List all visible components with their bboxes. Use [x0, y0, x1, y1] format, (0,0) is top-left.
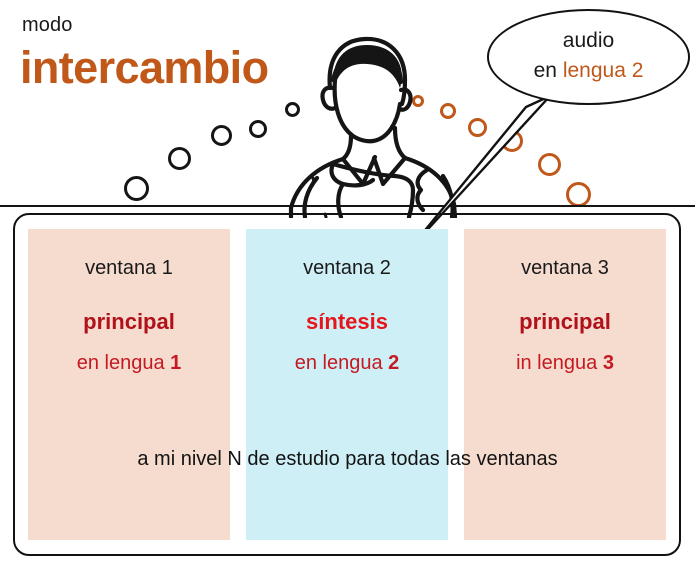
balloon-line-2-prefix: en	[534, 59, 563, 82]
window-1-title: ventana 1	[28, 257, 230, 280]
window-1-language: en lengua 1	[28, 352, 230, 375]
decor-bubble-dark	[211, 125, 232, 146]
window-column-2[interactable]: ventana 2 síntesis en lengua 2	[246, 229, 448, 540]
mode-eyebrow-label: modo	[22, 14, 72, 37]
decor-bubble-dark	[124, 176, 149, 201]
horizon-line	[0, 205, 695, 207]
balloon-line-1: audio	[487, 26, 690, 56]
speech-balloon-text: audio en lengua 2	[487, 26, 690, 86]
window-3-role: principal	[464, 309, 666, 335]
window-2-role: síntesis	[246, 309, 448, 335]
decor-bubble-amber	[538, 153, 561, 176]
illustration-canvas: modo intercambio	[0, 0, 695, 571]
page-title: intercambio	[20, 42, 268, 94]
window-2-language-prefix: en lengua	[295, 352, 388, 374]
window-2-title: ventana 2	[246, 257, 448, 280]
balloon-line-2-accent: lengua 2	[563, 59, 644, 82]
window-3-language: in lengua 3	[464, 352, 666, 375]
balloon-line-2: en lengua 2	[487, 56, 690, 86]
decor-bubble-amber	[566, 182, 591, 207]
panel-footer-note: a mi nivel N de estudio para todas las v…	[0, 448, 695, 471]
window-column-1[interactable]: ventana 1 principal en lengua 1	[28, 229, 230, 540]
window-1-language-number: 1	[170, 352, 181, 374]
window-1-language-prefix: en lengua	[77, 352, 170, 374]
window-2-language-number: 2	[388, 352, 399, 374]
window-3-language-number: 3	[603, 352, 614, 374]
person-illustration-icon	[255, 18, 505, 218]
decor-bubble-dark	[168, 147, 191, 170]
window-3-title: ventana 3	[464, 257, 666, 280]
window-2-language: en lengua 2	[246, 352, 448, 375]
window-column-3[interactable]: ventana 3 principal in lengua 3	[464, 229, 666, 540]
window-1-role: principal	[28, 309, 230, 335]
window-3-language-prefix: in lengua	[516, 352, 603, 374]
